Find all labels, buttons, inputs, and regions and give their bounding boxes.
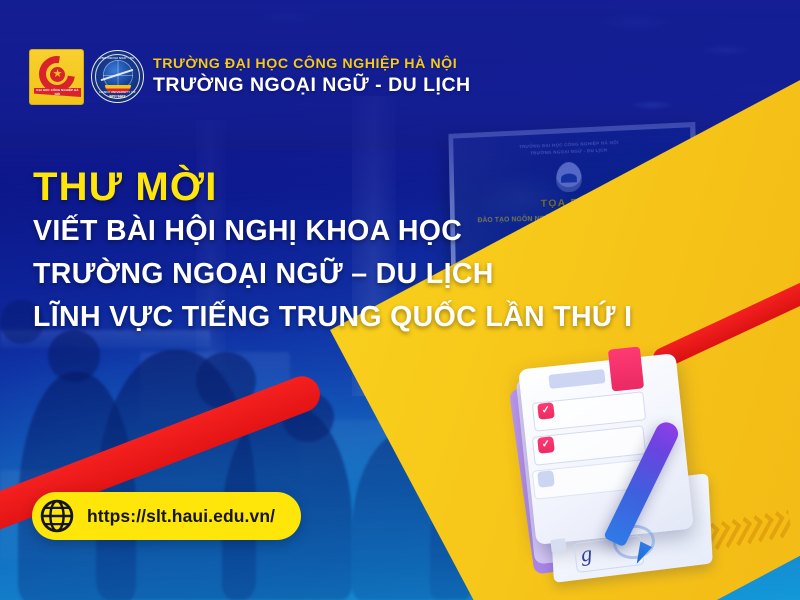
checkbox-empty-icon <box>537 470 555 488</box>
logo-star-icon: ★ <box>52 69 63 80</box>
haui-university-logo: ★ ĐẠI HỌC CÔNG NGHIỆP HÀ NỘI <box>29 49 84 105</box>
poster-header: ★ ĐẠI HỌC CÔNG NGHIỆP HÀ NỘI TRƯỜNG NGOẠ… <box>0 0 800 118</box>
website-url-text: https://slt.haui.edu.vn/ <box>87 506 275 527</box>
checkbox-checked-icon: ✓ <box>537 402 555 420</box>
school-of-languages-tourism-seal: TRƯỜNG NGOẠI NGỮ - DU LỊCH HANOI UNIVERS… <box>91 50 144 103</box>
header-text-block: TRƯỜNG ĐẠI HỌC CÔNG NGHIỆP HÀ NỘI TRƯỜNG… <box>153 56 471 98</box>
checkbox-checked-icon: ✓ <box>537 436 555 454</box>
headline-line-3: LĨNH VỰC TIẾNG TRUNG QUỐC LẦN THỨ I <box>33 299 593 337</box>
logo-red-banner: ĐẠI HỌC CÔNG NGHIỆP HÀ NỘI <box>34 88 81 97</box>
headline-line-2: TRƯỜNG NGOẠI NGỮ – DU LỊCH <box>33 256 593 294</box>
pink-tab-icon <box>608 346 644 391</box>
header-university-name: TRƯỜNG ĐẠI HỌC CÔNG NGHIỆP HÀ NỘI <box>153 56 471 72</box>
website-url-pill[interactable]: https://slt.haui.edu.vn/ <box>32 492 301 540</box>
invitation-poster: TRƯỜNG ĐẠI HỌC CÔNG NGHIỆP HÀ NỘI TRƯỜNG… <box>0 0 800 600</box>
header-school-name: TRƯỜNG NGOẠI NGỮ - DU LỊCH <box>153 74 471 97</box>
headline-block: THƯ MỜI VIẾT BÀI HỘI NGHỊ KHOA HỌC TRƯỜN… <box>33 166 593 336</box>
checklist-illustration: ✓ ✓ g <box>497 343 732 593</box>
logo-caption: ĐẠI HỌC CÔNG NGHIỆP HÀ NỘI <box>34 88 81 96</box>
headline-line-1: VIẾT BÀI HỘI NGHỊ KHOA HỌC <box>33 213 593 251</box>
page-title: THƯ MỜI <box>33 166 593 208</box>
globe-icon <box>40 499 74 533</box>
seal-year-label: SLT - HaUI <box>92 95 143 99</box>
seal-ring-top-text: TRƯỜNG NGOẠI NGỮ - DU LỊCH <box>92 56 143 60</box>
stamp-icon <box>550 538 566 553</box>
